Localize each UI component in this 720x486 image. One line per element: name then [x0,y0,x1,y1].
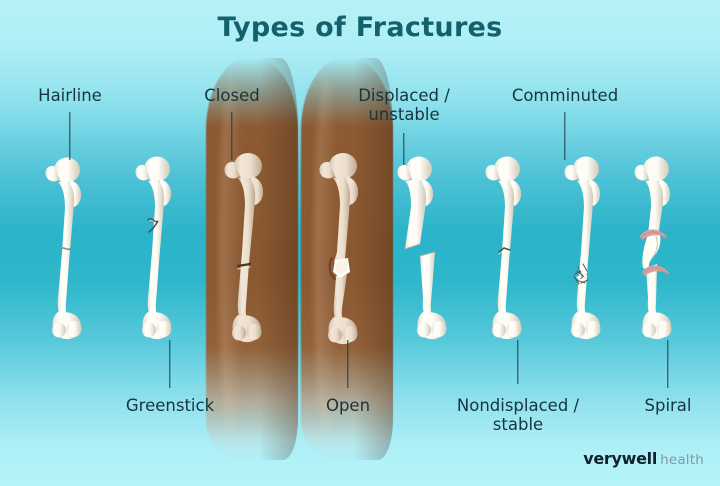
leader-line-closed [231,112,232,160]
label-comminuted: Comminuted [512,86,618,105]
label-nondisplaced: Nondisplaced / stable [457,396,579,434]
bone-nondisplaced [477,152,557,347]
leader-line-hairline [69,112,70,160]
bone-hairline [40,152,116,347]
bone-open [311,148,391,353]
leader-line-displaced [403,133,404,165]
bone-segment-lower [417,252,447,339]
label-open: Open [326,396,370,415]
bone-spiral [626,152,706,347]
infographic-canvas: Types of Fractures [0,0,720,486]
leader-line-comminuted [564,112,565,160]
leader-line-spiral [667,340,668,388]
verywell-health-logo: verywell health [583,449,704,468]
logo-suffix: health [660,452,704,468]
leader-line-greenstick [169,340,170,388]
bone-comminuted [556,152,636,347]
label-displaced: Displaced / unstable [358,86,450,124]
bone-closed [216,148,296,353]
label-greenstick: Greenstick [126,396,214,415]
bone-displaced [390,152,470,347]
leader-line-nondisplaced [517,340,518,384]
label-spiral: Spiral [644,396,691,415]
leader-line-open [347,340,348,388]
bone-greenstick [128,152,204,347]
bone-segment-upper [397,157,433,250]
logo-brand: verywell [583,449,657,468]
label-closed: Closed [204,86,259,105]
label-hairline: Hairline [38,86,102,105]
page-title: Types of Fractures [0,12,720,43]
